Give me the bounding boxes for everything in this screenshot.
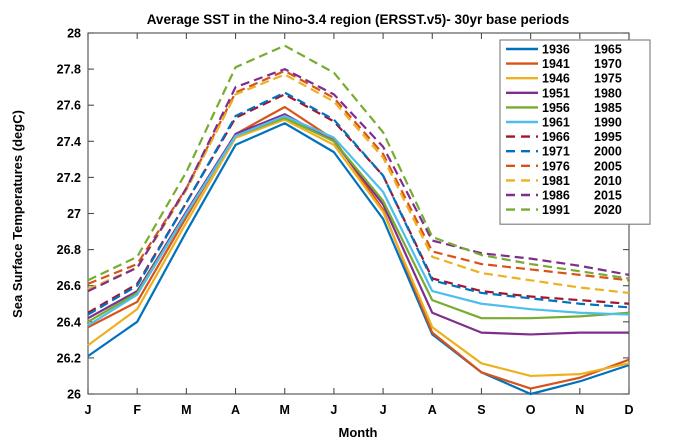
y-tick-label: 26.4	[57, 315, 81, 329]
legend-label-start-6: 1966	[542, 130, 570, 144]
x-tick-label: A	[231, 403, 240, 417]
x-axis-title: Month	[339, 425, 378, 440]
y-tick-label: 27.4	[57, 135, 81, 149]
legend-label-start-9: 1981	[542, 174, 570, 188]
x-tick-label: S	[477, 403, 485, 417]
x-tick-label: J	[85, 403, 92, 417]
legend-label-start-11: 1991	[542, 203, 570, 217]
sst-line-chart: Average SST in the Nino-3.4 region (ERSS…	[0, 0, 680, 444]
legend-label-start-2: 1946	[542, 72, 570, 86]
legend-label-end-3: 1980	[594, 86, 622, 100]
legend-label-start-0: 1936	[542, 43, 570, 57]
x-tick-label: O	[526, 403, 536, 417]
y-tick-label: 27.6	[57, 99, 81, 113]
legend-label-start-5: 1961	[542, 116, 570, 130]
y-axis-title: Sea Surface Temperatures (degC)	[10, 110, 25, 318]
x-tick-label: D	[624, 403, 633, 417]
y-tick-label: 27	[67, 207, 81, 221]
legend-label-start-8: 1976	[542, 159, 570, 173]
legend-label-start-7: 1971	[542, 145, 570, 159]
x-tick-label: J	[380, 403, 387, 417]
legend-label-end-0: 1965	[594, 43, 622, 57]
x-tick-label: J	[330, 403, 337, 417]
y-tick-label: 26.8	[57, 243, 81, 257]
x-tick-label: F	[133, 403, 141, 417]
y-tick-label: 26.2	[57, 351, 81, 365]
legend-label-start-10: 1986	[542, 189, 570, 203]
chart-legend[interactable]: 1936196519411970194619751951198019561985…	[500, 40, 650, 224]
x-tick-label: M	[280, 403, 290, 417]
legend-label-end-2: 1975	[594, 72, 622, 86]
legend-label-end-1: 1970	[594, 57, 622, 71]
legend-label-end-7: 2000	[594, 145, 622, 159]
legend-label-end-5: 1990	[594, 116, 622, 130]
legend-label-end-11: 2020	[594, 203, 622, 217]
x-tick-label: N	[575, 403, 584, 417]
legend-label-end-10: 2015	[594, 189, 622, 203]
legend-label-end-4: 1985	[594, 101, 622, 115]
legend-label-end-9: 2010	[594, 174, 622, 188]
x-tick-label: M	[181, 403, 191, 417]
chart-title: Average SST in the Nino-3.4 region (ERSS…	[147, 12, 570, 27]
y-tick-label: 26	[67, 388, 81, 402]
y-tick-label: 26.6	[57, 279, 81, 293]
legend-label-end-6: 1995	[594, 130, 622, 144]
y-tick-label: 28	[67, 27, 81, 41]
legend-label-start-4: 1956	[542, 101, 570, 115]
legend-label-start-1: 1941	[542, 57, 570, 71]
x-tick-label: A	[428, 403, 437, 417]
y-tick-label: 27.2	[57, 171, 81, 185]
y-tick-label: 27.8	[57, 63, 81, 77]
legend-label-end-8: 2005	[594, 159, 622, 173]
chart-container: Average SST in the Nino-3.4 region (ERSS…	[0, 0, 680, 444]
legend-label-start-3: 1951	[542, 86, 570, 100]
